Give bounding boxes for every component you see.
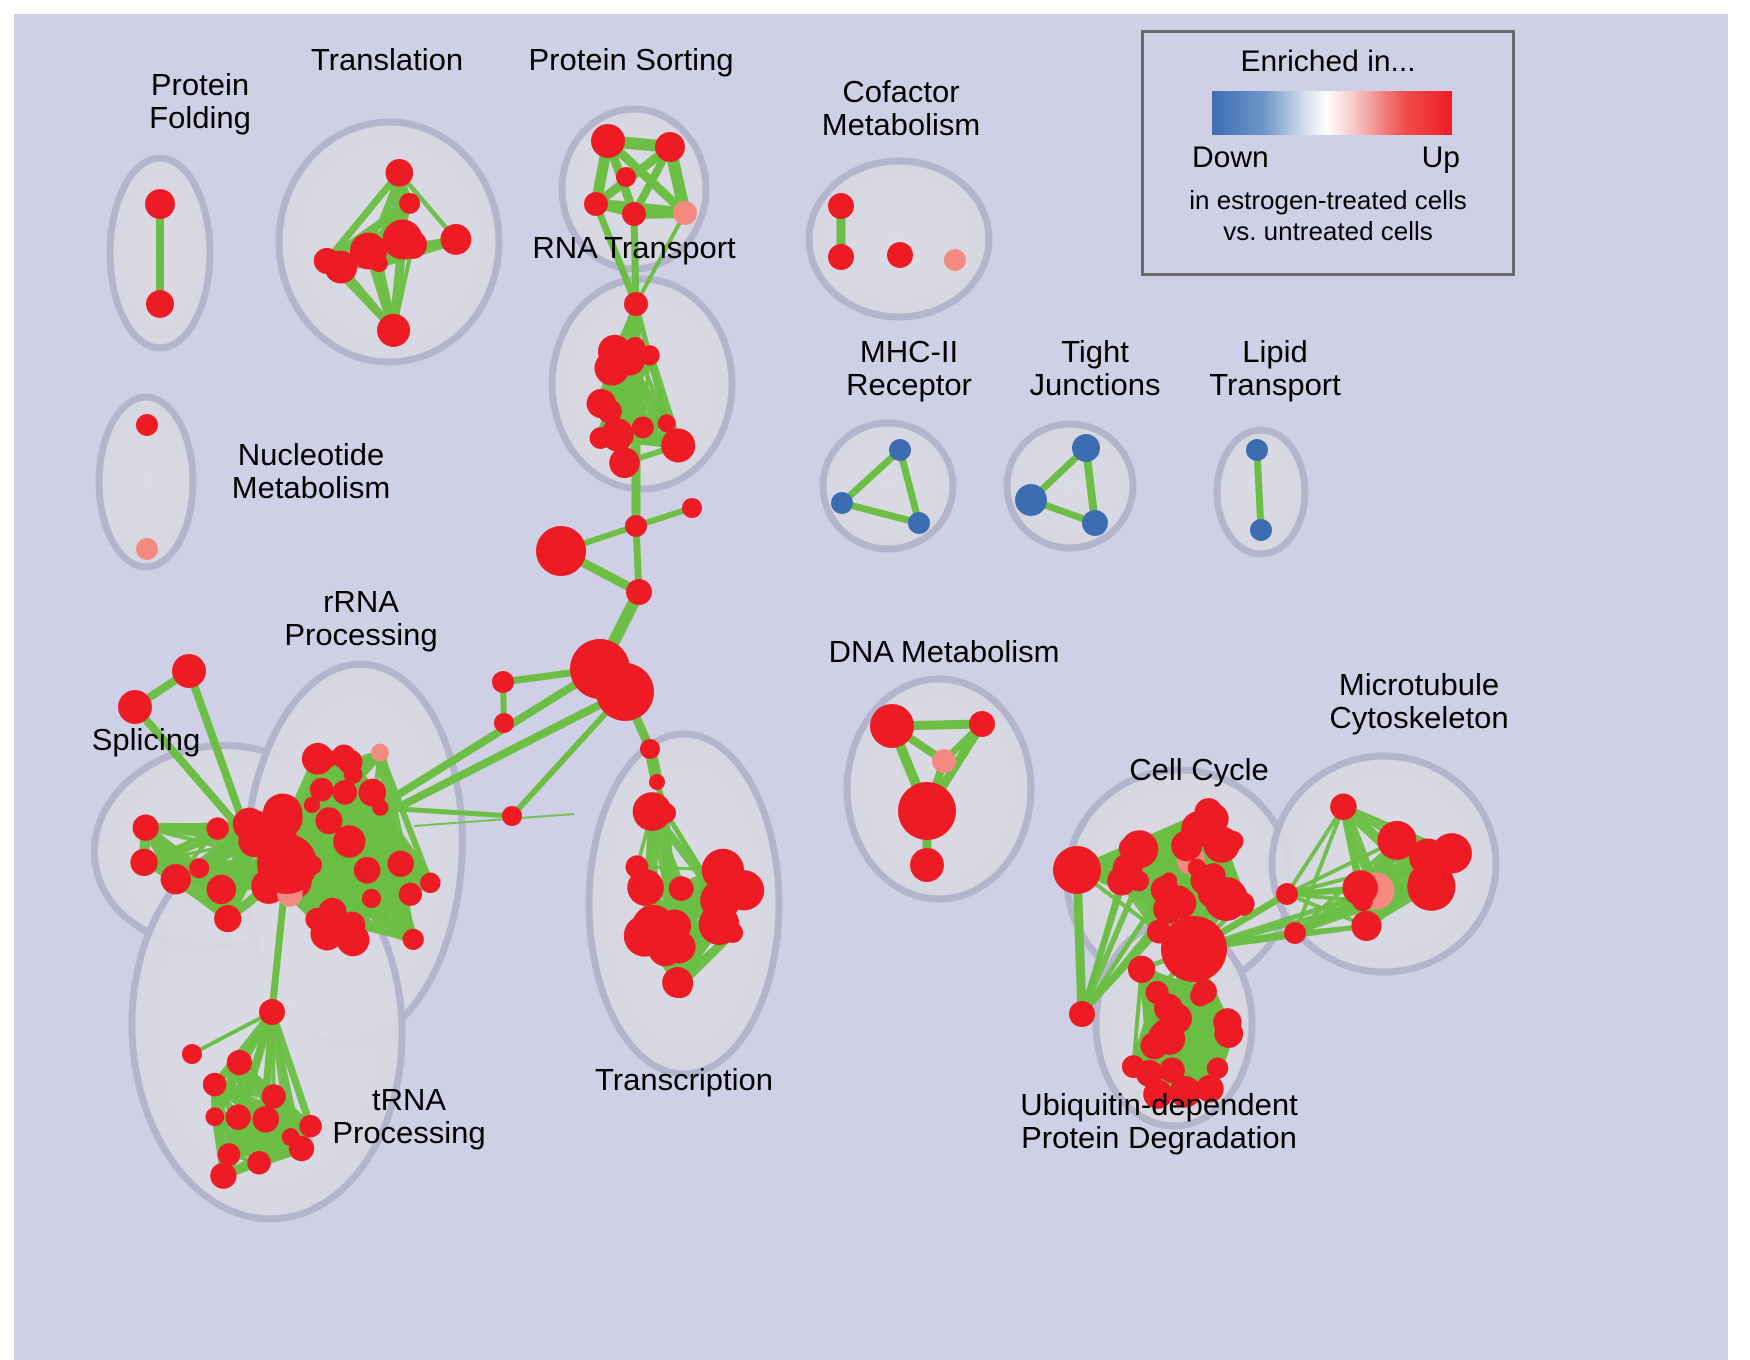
gene-set-node[interactable]: [310, 917, 343, 950]
gene-set-node[interactable]: [1053, 846, 1101, 894]
gene-set-node[interactable]: [206, 817, 228, 839]
gene-set-node[interactable]: [870, 704, 914, 748]
gene-set-node[interactable]: [1250, 519, 1272, 541]
gene-set-node[interactable]: [910, 848, 944, 882]
gene-set-node[interactable]: [227, 1050, 252, 1075]
gene-set-node[interactable]: [1192, 979, 1217, 1004]
legend-down-label: Down: [1192, 141, 1269, 175]
gene-set-node[interactable]: [161, 864, 191, 894]
gene-set-node[interactable]: [624, 915, 666, 957]
gene-set-node[interactable]: [1128, 871, 1149, 892]
gene-set-node[interactable]: [214, 905, 241, 932]
gene-set-node[interactable]: [399, 193, 420, 214]
gene-set-node[interactable]: [403, 929, 424, 950]
cluster-ellipse-mhc-ii-receptor: [823, 423, 953, 549]
gene-set-node[interactable]: [626, 579, 652, 605]
gene-set-node[interactable]: [632, 416, 654, 438]
gene-set-node[interactable]: [627, 869, 664, 906]
gene-set-node[interactable]: [172, 654, 206, 688]
cluster-label-mhc-ii-receptor: MHC-II Receptor: [814, 336, 1004, 402]
gene-set-node[interactable]: [492, 671, 514, 693]
gene-set-node[interactable]: [494, 713, 514, 733]
legend-colorbar: [1212, 91, 1452, 135]
gene-set-node[interactable]: [207, 875, 237, 905]
gene-set-node[interactable]: [320, 750, 337, 767]
gene-set-node[interactable]: [587, 389, 616, 418]
gene-set-node[interactable]: [257, 834, 317, 894]
gene-set-node[interactable]: [1246, 439, 1268, 461]
gene-set-node[interactable]: [536, 526, 586, 576]
gene-set-node[interactable]: [1409, 838, 1446, 875]
figure-root: Protein FoldingTranslationProtein Sortin…: [0, 0, 1750, 1360]
gene-set-node[interactable]: [616, 167, 636, 187]
gene-set-node[interactable]: [225, 1104, 251, 1130]
gene-set-node[interactable]: [377, 314, 410, 347]
gene-set-node[interactable]: [1161, 872, 1177, 888]
gene-set-node[interactable]: [649, 774, 665, 790]
gene-set-node[interactable]: [932, 749, 956, 773]
cluster-label-nucleotide-metabolism: Nucleotide Metabolism: [206, 439, 416, 505]
cluster-label-tight-junctions: Tight Junctions: [1000, 336, 1190, 402]
gene-set-node[interactable]: [252, 1106, 279, 1133]
gene-set-node[interactable]: [314, 248, 340, 274]
gene-set-node[interactable]: [655, 132, 685, 162]
gene-set-node[interactable]: [259, 999, 285, 1025]
gene-set-node[interactable]: [387, 850, 414, 877]
gene-set-node[interactable]: [189, 858, 209, 878]
gene-set-node[interactable]: [656, 803, 676, 823]
gene-set-node[interactable]: [1015, 484, 1047, 516]
gene-set-node[interactable]: [1195, 798, 1223, 826]
gene-set-node[interactable]: [828, 244, 854, 270]
gene-set-node[interactable]: [828, 193, 854, 219]
gene-set-node[interactable]: [385, 159, 413, 187]
gene-set-node[interactable]: [898, 782, 956, 840]
gene-set-node[interactable]: [372, 799, 388, 815]
gene-set-node[interactable]: [601, 418, 634, 451]
gene-set-node[interactable]: [315, 807, 342, 834]
network-canvas: Protein FoldingTranslationProtein Sortin…: [14, 14, 1728, 1360]
cluster-label-rrna-processing: rRNA Processing: [266, 586, 456, 652]
gene-set-node[interactable]: [669, 876, 694, 901]
gene-set-node[interactable]: [699, 904, 740, 945]
legend-subtitle: in estrogen-treated cells vs. untreated …: [1144, 185, 1512, 246]
cluster-ellipse-cofactor-metabolism: [809, 161, 989, 317]
gene-set-node[interactable]: [145, 189, 175, 219]
cluster-label-cofactor-metabolism: Cofactor Metabolism: [796, 76, 1006, 142]
gene-set-node[interactable]: [1214, 1019, 1243, 1048]
gene-set-node[interactable]: [1122, 1055, 1145, 1078]
legend-up-label: Up: [1422, 141, 1460, 175]
gene-set-node[interactable]: [354, 857, 381, 884]
gene-set-node[interactable]: [218, 1143, 241, 1166]
gene-set-node[interactable]: [969, 711, 995, 737]
cluster-label-protein-folding: Protein Folding: [100, 69, 300, 135]
gene-set-node[interactable]: [1330, 793, 1357, 820]
gene-set-node[interactable]: [133, 815, 159, 841]
cluster-label-trna-processing: tRNA Processing: [314, 1084, 504, 1150]
gene-set-node[interactable]: [944, 249, 966, 271]
cluster-label-transcription: Transcription: [574, 1064, 794, 1097]
gene-set-node[interactable]: [1128, 956, 1155, 983]
gene-set-node[interactable]: [584, 192, 608, 216]
cluster-label-translation: Translation: [282, 44, 492, 77]
gene-set-node[interactable]: [262, 1084, 286, 1108]
gene-set-node[interactable]: [304, 797, 320, 813]
gene-set-node[interactable]: [1276, 883, 1298, 905]
gene-set-node[interactable]: [136, 538, 158, 560]
gene-set-node[interactable]: [358, 246, 377, 265]
gene-set-node[interactable]: [658, 414, 676, 432]
gene-set-node[interactable]: [247, 1151, 271, 1175]
gene-set-node[interactable]: [146, 290, 174, 318]
cluster-ellipses: [81, 109, 1496, 1224]
gene-set-node[interactable]: [241, 831, 257, 847]
gene-set-node[interactable]: [598, 335, 631, 368]
cluster-label-ubiquitin-protein-degradation: Ubiquitin-dependent Protein Degradation: [994, 1089, 1324, 1155]
gene-set-node[interactable]: [640, 739, 660, 759]
gene-set-node[interactable]: [1082, 510, 1108, 536]
gene-set-node[interactable]: [673, 201, 697, 225]
gene-set-node[interactable]: [136, 414, 158, 436]
cluster-label-rna-transport: RNA Transport: [509, 232, 759, 265]
gene-set-node[interactable]: [371, 744, 389, 762]
gene-set-node[interactable]: [596, 663, 654, 721]
gene-set-node[interactable]: [210, 1163, 236, 1189]
gene-set-node[interactable]: [1203, 826, 1240, 863]
gene-set-node[interactable]: [1153, 894, 1183, 924]
cluster-label-microtubule-cytoskeleton: Microtubule Cytoskeleton: [1304, 669, 1534, 735]
gene-set-node[interactable]: [1153, 1019, 1174, 1040]
gene-set-node[interactable]: [591, 124, 625, 158]
gene-set-node[interactable]: [1204, 877, 1248, 921]
cluster-label-splicing: Splicing: [66, 724, 226, 757]
legend-title: Enriched in...: [1144, 45, 1512, 79]
gene-set-node[interactable]: [1207, 1058, 1228, 1079]
cluster-label-cell-cycle: Cell Cycle: [1104, 754, 1294, 787]
gene-set-node[interactable]: [205, 1107, 224, 1126]
gene-set-node[interactable]: [398, 230, 427, 259]
gene-set-node[interactable]: [1161, 916, 1227, 982]
gene-set-node[interactable]: [344, 765, 363, 784]
gene-set-node[interactable]: [625, 515, 647, 537]
edge: [1257, 450, 1261, 530]
gene-set-node[interactable]: [1146, 981, 1169, 1004]
gene-set-node[interactable]: [362, 889, 381, 908]
gene-set-node[interactable]: [420, 873, 441, 894]
gene-set-node[interactable]: [1069, 1001, 1095, 1027]
gene-set-node[interactable]: [887, 242, 913, 268]
gene-set-node[interactable]: [682, 498, 702, 518]
cluster-label-dna-metabolism: DNA Metabolism: [814, 636, 1074, 669]
gene-set-node[interactable]: [1119, 837, 1142, 860]
gene-set-node[interactable]: [440, 224, 471, 255]
cluster-label-protein-sorting: Protein Sorting: [506, 44, 756, 77]
gene-set-node[interactable]: [182, 1044, 202, 1064]
gene-set-node[interactable]: [622, 202, 646, 226]
gene-set-node[interactable]: [609, 447, 640, 478]
gene-set-node[interactable]: [1284, 922, 1306, 944]
gene-set-node[interactable]: [203, 1073, 227, 1097]
gene-set-node[interactable]: [724, 870, 764, 910]
gene-set-node[interactable]: [1072, 434, 1100, 462]
gene-set-node[interactable]: [1351, 911, 1381, 941]
gene-set-node[interactable]: [399, 883, 422, 906]
gene-set-node[interactable]: [118, 690, 152, 724]
cluster-label-lipid-transport: Lipid Transport: [1180, 336, 1370, 402]
gene-set-node[interactable]: [502, 806, 522, 826]
gene-set-node[interactable]: [1343, 870, 1378, 905]
gene-set-node[interactable]: [624, 292, 648, 316]
gene-set-node[interactable]: [661, 428, 695, 462]
legend-box: Enriched in... Down Up in estrogen-treat…: [1141, 30, 1515, 276]
gene-set-node[interactable]: [889, 439, 911, 461]
gene-set-node[interactable]: [667, 972, 693, 998]
gene-set-node[interactable]: [908, 512, 930, 534]
gene-set-node[interactable]: [130, 849, 157, 876]
gene-set-node[interactable]: [831, 492, 853, 514]
gene-set-node[interactable]: [289, 1136, 314, 1161]
